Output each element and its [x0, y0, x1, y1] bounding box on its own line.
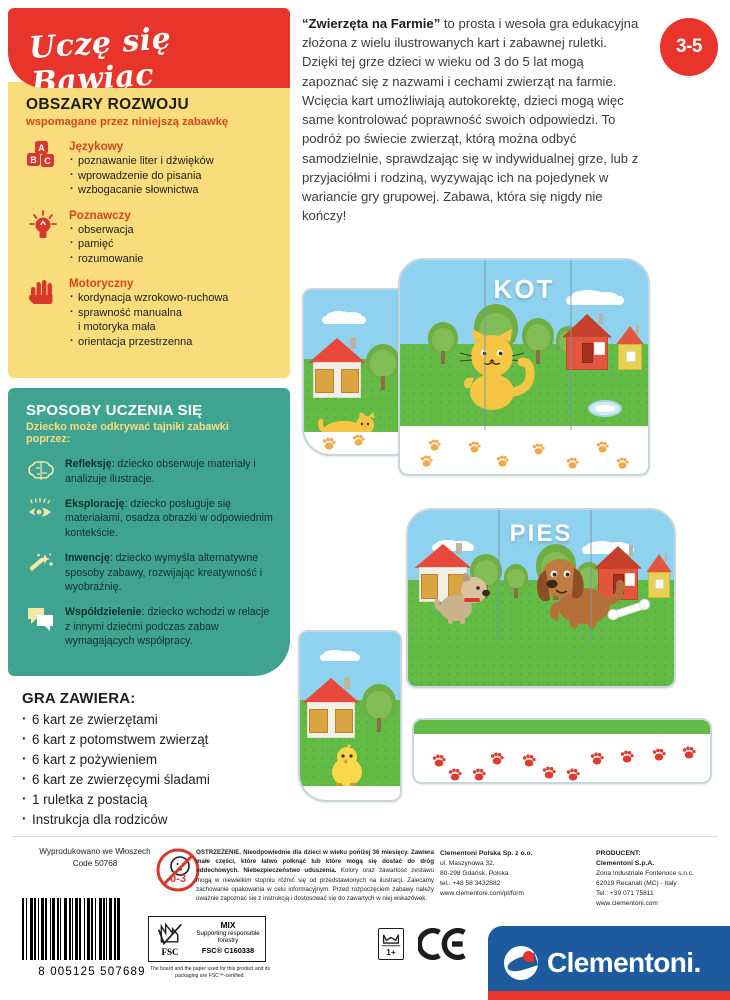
magic-wand-icon: [26, 551, 56, 579]
distributor-street: ul. Maszynowa 32,: [440, 860, 495, 867]
learning-item-sharing: Współdzielenie: dziecko wchodzi w relacj…: [26, 605, 276, 648]
product-card-cat-main: KOT: [398, 258, 650, 476]
cloud-icon: [320, 654, 360, 661]
distributor-tel: tel.: +48 58 3432882: [440, 880, 500, 887]
legal-divider: [12, 836, 718, 837]
manufacturer-web[interactable]: www.clementoni.com: [596, 900, 658, 907]
development-area-language: A B C Językowy poznawanie liter i dźwięk…: [26, 140, 276, 198]
list-item: 6 kart ze zwierzęcymi śladami: [22, 770, 290, 790]
manufacturer-heading: PRODUCENT:: [596, 850, 641, 857]
paw-print-icon: [566, 768, 580, 781]
area-items: kordynacja wzrokowo-ruchowa sprawność ma…: [69, 291, 228, 349]
svg-text:A: A: [38, 143, 45, 153]
paw-print-icon: [496, 454, 509, 466]
paw-print-icon: [542, 766, 556, 779]
hand-icon: [26, 277, 60, 311]
package-back-panel: Uczę się Bawiąc OBSZARY ROZWOJU wspomaga…: [0, 0, 730, 1000]
list-item: orientacja przestrzenna: [69, 335, 228, 350]
cloud-icon: [322, 316, 366, 324]
svg-text:B: B: [30, 155, 37, 165]
paw-print-icon: [682, 746, 696, 759]
area-name: Motoryczny: [69, 277, 228, 290]
cat-illustration: [452, 326, 548, 414]
paw-print-icon: [352, 433, 365, 445]
made-in-text: Wyprodukowano we Włoszech: [20, 846, 170, 858]
left-column: Uczę się Bawiąc OBSZARY ROZWOJU wspomaga…: [8, 8, 290, 830]
manufacturer-city: 62019 Recanati (MC) - Italy: [596, 880, 677, 887]
area-items: poznawanie liter i dźwięków wprowadzenie…: [69, 154, 214, 198]
learning-item-label: Inwencję: [65, 552, 110, 564]
learning-item-text: Eksplorację: dziecko posługuje się mater…: [65, 497, 276, 540]
paw-print-icon: [490, 752, 504, 765]
development-area-motor: Motoryczny kordynacja wzrokowo-ruchowa s…: [26, 277, 276, 349]
chick-illustration: [324, 744, 370, 790]
barcode: 8 005125 507689: [22, 898, 162, 976]
speech-bubbles-icon: [26, 605, 56, 633]
learning-item-label: Współdzielenie: [65, 606, 142, 618]
area-name: Poznawczy: [69, 209, 143, 222]
list-item: sprawność manualna: [69, 306, 228, 321]
list-item: poznawanie liter i dźwięków: [69, 154, 214, 169]
no-children-under-3-icon: 0-3: [156, 848, 200, 892]
area-name: Językowy: [69, 140, 214, 153]
eye-icon: [26, 497, 56, 525]
brand-banner: Uczę się Bawiąc: [8, 8, 290, 88]
fsc-logo: FSC MIX Supporting responsible forestry …: [148, 916, 266, 962]
paw-print-icon: [532, 442, 545, 454]
list-item: i motoryka mała: [69, 320, 228, 335]
distributor-address: Clementoni Polska Sp. z o.o. ul. Maszyno…: [440, 849, 585, 899]
fsc-note: The board and the paper used for this pr…: [142, 966, 278, 980]
product-name: “Zwierzęta na Farmie”: [302, 16, 440, 31]
list-item: pamięć: [69, 237, 143, 252]
clementoni-mark-icon: [504, 946, 538, 980]
clementoni-wordmark: Clementoni.: [547, 947, 701, 979]
house-icon: [302, 678, 360, 738]
learning-item-text: Refleksję: dziecko obserwuje materiały i…: [65, 457, 276, 486]
paw-print-icon: [596, 440, 609, 452]
manufacturer-address: PRODUCENT: Clementoni S.p.A. Zona Indust…: [596, 849, 726, 909]
contains-section: GRA ZAWIERA: 6 kart ze zwierzętami 6 kar…: [8, 690, 290, 831]
paw-print-icon: [428, 438, 441, 450]
list-item: Instrukcja dla rodziców: [22, 810, 290, 830]
contains-list: 6 kart ze zwierzętami 6 kart z potomstwe…: [22, 710, 290, 831]
manufacturer-name: Clementoni S.p.A.: [596, 860, 654, 867]
learning-item-label: Eksplorację: [65, 498, 124, 510]
tree-icon: [366, 344, 400, 390]
paw-print-icon: [652, 748, 666, 761]
paw-print-icon: [448, 768, 462, 781]
paw-print-icon: [432, 754, 446, 767]
barcode-number: 8 005125 507689: [22, 966, 162, 978]
svg-text:1+: 1+: [386, 947, 396, 957]
product-card-chick: [298, 630, 402, 802]
development-subtitle: wspomagane przez niniejszą zabawkę: [26, 116, 276, 128]
house-icon: [616, 326, 644, 370]
puzzle-seam: [570, 260, 572, 430]
fsc-statement: Supporting responsible forestry: [191, 930, 265, 944]
blank-strip: [300, 786, 400, 800]
development-title: OBSZARY ROZWOJU: [26, 96, 276, 114]
list-item: 6 kart ze zwierzętami: [22, 710, 290, 730]
house-icon: [646, 554, 672, 598]
paw-print-icon: [522, 754, 536, 767]
learning-item-text: Współdzielenie: dziecko wchodzi w relacj…: [65, 605, 276, 648]
puppy-illustration: [430, 568, 500, 624]
tree-icon: [362, 684, 396, 732]
brain-icon: [26, 457, 56, 485]
list-item: obserwacja: [69, 223, 143, 238]
made-in-block: Wyprodukowano we Włoszech Code 50768: [20, 846, 170, 871]
learning-item-invention: Inwencję: dziecko wymyśla alternatywne s…: [26, 551, 276, 594]
distributor-name: Clementoni Polska Sp. z o.o.: [440, 850, 533, 857]
age-1plus-icon: 1+: [378, 928, 404, 960]
learning-subtitle: Dziecko może odkrywać tajniki zabawki po…: [26, 421, 276, 445]
clementoni-logo: Clementoni.: [488, 926, 730, 1000]
warning-text: OSTRZEŻENIE. Nieodpowiednie dla dzieci w…: [196, 848, 434, 903]
development-panel: OBSZARY ROZWOJU wspomagane przez niniejs…: [8, 82, 290, 378]
distributor-web[interactable]: www.clementoni.com/pl/form: [440, 890, 524, 897]
learning-item-reflection: Refleksję: dziecko obserwuje materiały i…: [26, 457, 276, 486]
learning-item-text: Inwencję: dziecko wymyśla alternatywne s…: [65, 551, 276, 594]
list-item: kordynacja wzrokowo-ruchowa: [69, 291, 228, 306]
paw-print-icon: [566, 456, 579, 468]
fsc-wordmark: FSC: [161, 947, 178, 957]
list-item: wzbogacanie słownictwa: [69, 183, 214, 198]
learning-item-label: Refleksję: [65, 458, 112, 470]
barcode-lines: [22, 898, 162, 960]
dog-illustration: [526, 550, 628, 628]
contains-title: GRA ZAWIERA:: [22, 690, 290, 707]
fsc-text: MIX Supporting responsible forestry FSC®…: [191, 917, 265, 961]
ce-mark-icon: [418, 928, 468, 966]
water-bowl-icon: [588, 400, 622, 417]
paw-print-icon: [468, 440, 481, 452]
learning-panel: SPOSOBY UCZENIA SIĘ Dziecko może odkrywa…: [8, 388, 290, 675]
grass-notch: [414, 720, 710, 734]
puzzle-seam: [498, 510, 500, 644]
distributor-city: 80-298 Gdańsk, Polska: [440, 870, 509, 877]
description-body: to prosta i wesoła gra edukacyjna złożon…: [302, 16, 638, 223]
fsc-mix: MIX: [191, 920, 265, 930]
paw-print-icon: [322, 437, 336, 450]
list-item: rozumowanie: [69, 252, 143, 267]
product-card-dog-main: PIES: [406, 508, 676, 688]
paw-print-icon: [616, 456, 629, 468]
age-badge: 3-5: [660, 18, 718, 76]
list-item: 6 kart z pożywieniem: [22, 750, 290, 770]
product-card-paw-strip: [412, 718, 712, 784]
product-description: “Zwierzęta na Farmie” to prosta i wesoła…: [302, 14, 642, 226]
fsc-code: FSC® C160338: [191, 946, 265, 955]
product-code: Code 50768: [20, 858, 170, 870]
tree-icon: [504, 564, 528, 598]
area-items: obserwacja pamięć rozumowanie: [69, 223, 143, 267]
list-item: 6 kart z potomstwem zwierząt: [22, 730, 290, 750]
puzzle-seam: [590, 510, 592, 644]
svg-text:C: C: [44, 156, 51, 166]
house-icon: [308, 338, 366, 398]
development-area-cognitive: Poznawczy obserwacja pamięć rozumowanie: [26, 209, 276, 267]
puzzle-seam: [484, 260, 486, 430]
product-photos: KOT: [296, 250, 724, 830]
cloud-icon: [566, 296, 624, 305]
product-card-cat-small: [302, 288, 406, 456]
learning-item-exploration: Eksplorację: dziecko posługuje się mater…: [26, 497, 276, 540]
learning-title: SPOSOBY UCZENIA SIĘ: [26, 402, 276, 419]
brand-title: Uczę się Bawiąc: [28, 13, 290, 88]
fsc-tree-icon: FSC: [149, 917, 191, 961]
manufacturer-street: Zona Industriale Fontenoce s.n.c.: [596, 870, 694, 877]
list-item: 1 ruletka z postacią: [22, 790, 290, 810]
paw-print-icon: [620, 750, 634, 763]
list-item: wprowadzenie do pisania: [69, 169, 214, 184]
lightbulb-icon: [26, 209, 60, 243]
paw-print-icon: [590, 752, 604, 765]
paw-print-icon: [420, 454, 433, 466]
abc-blocks-icon: A B C: [26, 140, 60, 174]
warning-heading: OSTRZEŻENIE.: [196, 849, 241, 856]
paw-print-icon: [472, 768, 486, 781]
manufacturer-tel: Tel.: +39 071 75811: [596, 890, 654, 897]
